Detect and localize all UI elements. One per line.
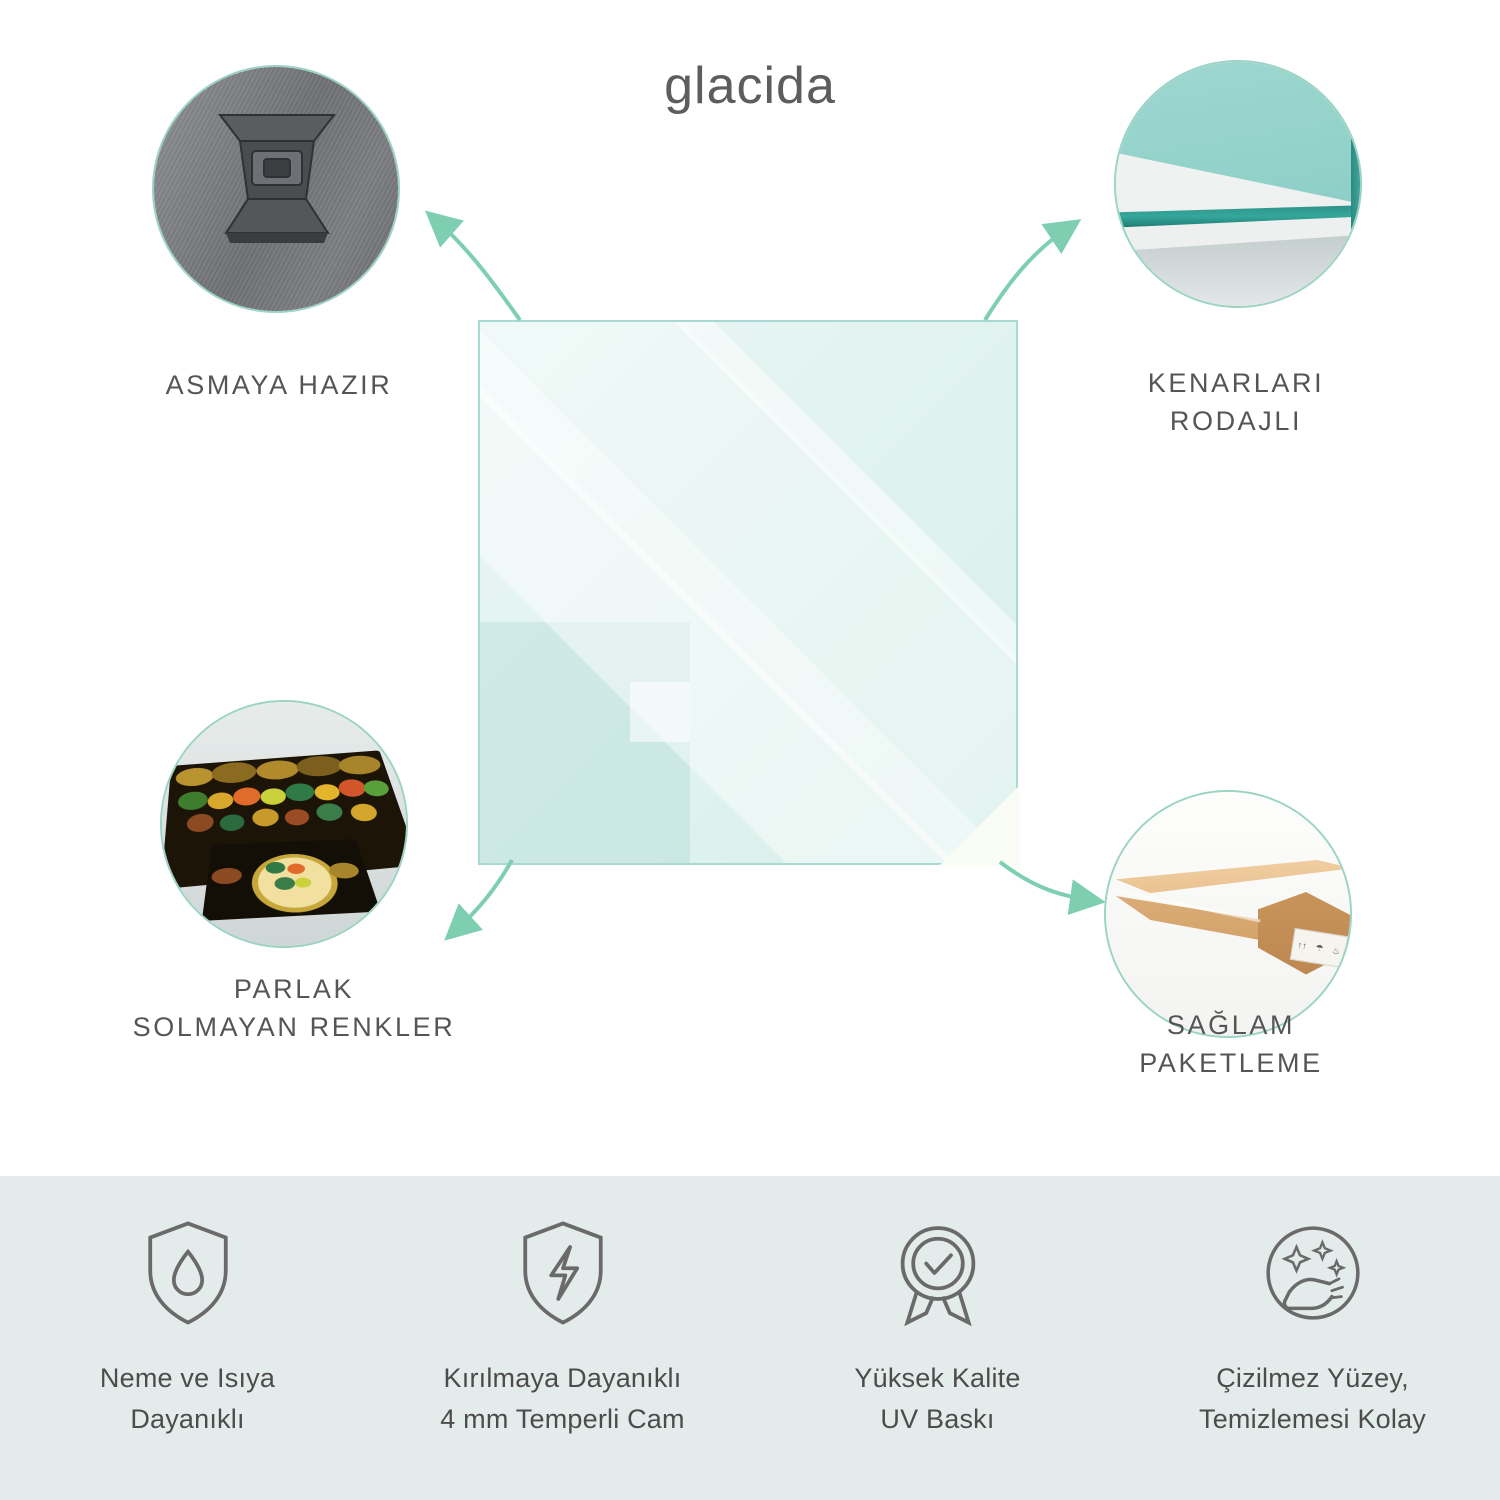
label-glyph-fragile: ♨ [1331,945,1341,957]
feature-label-colors: PARLAK SOLMAYAN RENKLER [94,970,494,1047]
glass-panel-product [478,320,1018,865]
feature-label-edge: KENARLARI RODAJLI [1046,364,1426,441]
benefit-item-shock: Kırılmaya Dayanıklı 4 mm Temperli Cam [375,1176,750,1500]
benefits-bar: Neme ve Isıya Dayanıklı Kırılmaya Dayanı… [0,1176,1500,1500]
label-glyph-keep-dry: ☂ [1315,942,1325,954]
benefit-item-quality: Yüksek Kalite UV Baskı [750,1176,1125,1500]
easy-clean-icon [1254,1214,1372,1332]
arrow-to-colors [456,860,512,930]
shock-shield-icon [504,1214,622,1332]
benefits-row: Neme ve Isıya Dayanıklı Kırılmaya Dayanı… [0,1176,1500,1500]
feature-label-hanger: ASMAYA HAZIR [84,366,474,404]
glass-surface [478,320,1018,865]
benefit-label-moisture-heat: Neme ve Isıya Dayanıklı [100,1358,275,1439]
arrow-to-package [1000,862,1090,900]
feature-image-colors [160,700,408,948]
arrow-to-edge [985,228,1068,320]
label-glyph-this-way-up: ↑↑ [1297,940,1307,951]
wall-hanger-icon [202,107,352,267]
feature-image-package: ↑↑ ☂ ♨ [1104,790,1352,1038]
glass-corner-fold-inner [940,787,1018,865]
benefit-item-easy-clean: Çizilmez Yüzey, Temizlemesi Kolay [1125,1176,1500,1500]
benefit-label-quality: Yüksek Kalite UV Baskı [854,1358,1020,1439]
benefit-label-easy-clean: Çizilmez Yüzey, Temizlemesi Kolay [1199,1358,1426,1439]
feature-image-edge [1114,60,1362,308]
quality-badge-icon [879,1214,997,1332]
benefit-item-moisture-heat: Neme ve Isıya Dayanıklı [0,1176,375,1500]
water-drop-shield-icon [129,1214,247,1332]
feature-image-hanger [152,65,400,313]
feature-label-package: SAĞLAM PAKETLEME [1036,1006,1426,1083]
benefit-label-shock: Kırılmaya Dayanıklı 4 mm Temperli Cam [440,1358,684,1439]
art-print-secondary [202,839,381,921]
arrow-to-hanger [437,221,520,320]
